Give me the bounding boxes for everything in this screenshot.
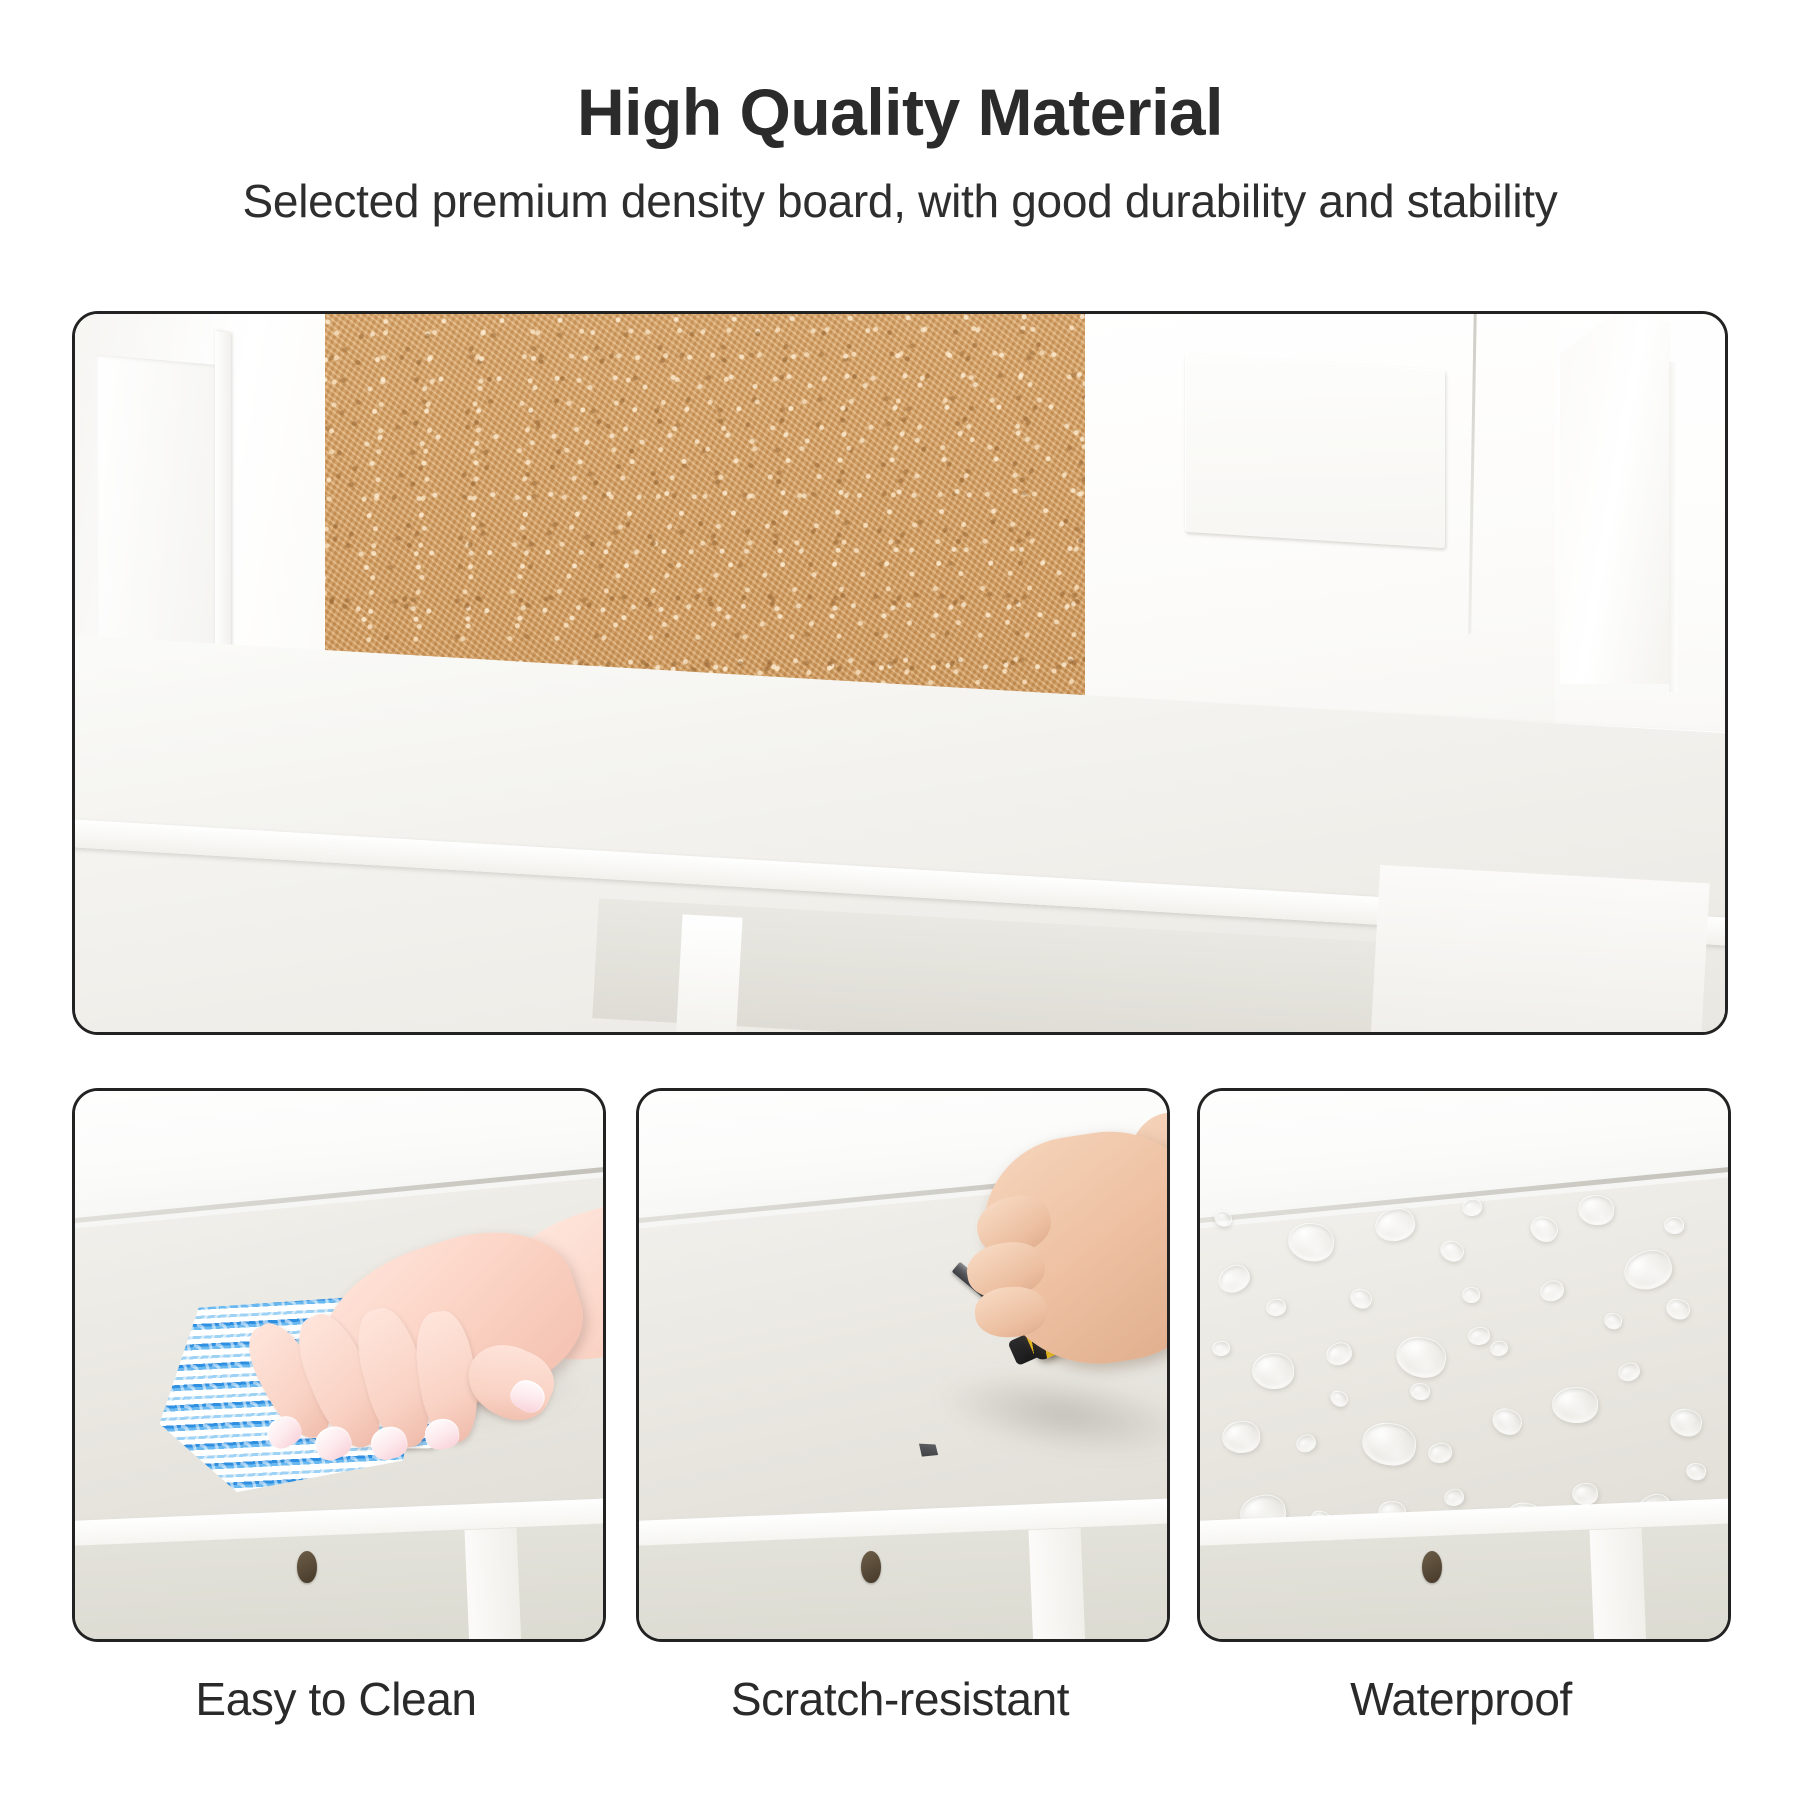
feature-3-recess-post — [1590, 1528, 1647, 1639]
hutch-right-side-edge — [1669, 362, 1677, 692]
desk-lower-divider — [675, 914, 742, 1032]
feature-1-recess-post — [465, 1528, 522, 1639]
water-droplet — [1251, 1352, 1294, 1389]
feature-2-inner — [639, 1091, 1167, 1639]
water-droplet — [1462, 1287, 1480, 1303]
hero-product-image — [72, 311, 1728, 1035]
feature-caption-scratch-resistant: Scratch-resistant — [636, 1672, 1164, 1726]
feature-image-scratch-resistant — [636, 1088, 1170, 1642]
water-droplet — [1664, 1217, 1684, 1234]
feature-1-knob — [297, 1551, 317, 1583]
feature-2-knob — [861, 1551, 881, 1583]
feature-image-easy-to-clean — [72, 1088, 606, 1642]
hero-image-inner — [75, 314, 1725, 1032]
feature-3-knob — [1422, 1551, 1442, 1583]
feature-caption-waterproof: Waterproof — [1197, 1672, 1725, 1726]
page-subtitle: Selected premium density board, with goo… — [0, 175, 1800, 228]
feature-caption-easy-to-clean: Easy to Clean — [72, 1672, 600, 1726]
page-title: High Quality Material — [0, 76, 1800, 149]
hand-graphic — [215, 1195, 603, 1495]
feature-image-waterproof — [1197, 1088, 1731, 1642]
feature-2-recess-post — [1029, 1528, 1086, 1639]
feature-3-inner — [1200, 1091, 1728, 1639]
feature-1-inner — [75, 1091, 603, 1639]
hutch-right-side-panel — [1560, 314, 1670, 684]
water-droplet — [1552, 1387, 1599, 1424]
desk-right-leg — [1370, 865, 1710, 1032]
hutch-inset-panel — [1185, 354, 1445, 548]
